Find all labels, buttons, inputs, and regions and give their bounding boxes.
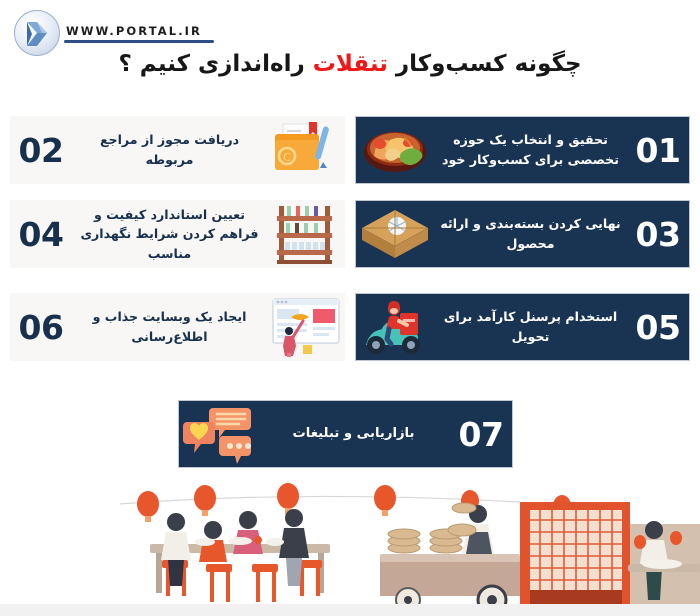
infographic-page: WWW.PORTAL.IR چگونه کسب‌وکار تنقلات راه‌… [0,0,700,616]
certificate-folder-icon: C [267,118,345,182]
step-text: ایجاد یک وبسایت جذاب و اطلاع‌رسانی [72,307,267,346]
footer-band [0,604,700,616]
step-number: 06 [10,308,72,347]
step-card-06[interactable]: 06 ایجاد یک وبسایت جذاب و اطلاع‌رسانی [10,293,345,361]
step-card-03[interactable]: 03 نهایی کردن بسته‌بندی و ارائه محصول [355,200,690,268]
step-card-02[interactable]: 02 دریافت مجوز از مراجع مربوطه C [10,116,345,184]
step-card-01[interactable]: 01 تحقیق و انتخاب یک حوزه تخصصی برای کسب… [355,116,690,184]
speech-bubbles-icon [179,402,257,466]
portal-chevron-logo-icon [25,20,51,48]
step-text: تحقیق و انتخاب یک حوزه تخصصی برای کسب‌وک… [434,130,627,169]
bottle-shelf-icon [267,202,345,266]
page-title: چگونه کسب‌وکار تنقلات راه‌اندازی کنیم ؟ [0,48,700,81]
step-card-05[interactable]: 05 استخدام پرسنل کارآمد برای تحویل [355,293,690,361]
street-food-restaurant-scene [0,468,700,616]
noodle-bowl-icon [356,118,434,182]
title-part-after: راه‌اندازی کنیم ؟ [118,51,312,77]
step-number: 05 [627,308,689,347]
step-text: نهایی کردن بسته‌بندی و ارائه محصول [434,214,627,253]
cardboard-box-icon [356,202,434,266]
title-part-before: چگونه کسب‌وکار [388,51,582,77]
step-text: دریافت مجوز از مراجع مربوطه [72,130,267,169]
delivery-scooter-icon [356,295,434,359]
step-number: 01 [627,131,689,170]
brand-url-text: WWW.PORTAL.IR [66,24,202,38]
step-card-07[interactable]: 07 بازاریابی و تبلیغات [178,400,513,468]
step-card-04[interactable]: 04 تعیین استاندارد کیفیت و فراهم کردن شر… [10,200,345,268]
title-highlight: تنقلات [313,51,388,77]
step-text: تعیین استاندارد کیفیت و فراهم کردن شرایط… [72,205,267,264]
step-text: استخدام پرسنل کارآمد برای تحویل [434,307,627,346]
website-builder-icon [267,295,345,359]
step-number: 02 [10,131,72,170]
step-text: بازاریابی و تبلیغات [257,424,450,444]
step-number: 04 [10,215,72,254]
step-number: 07 [450,415,512,454]
brand-underline [64,40,214,43]
svg-text:C: C [283,151,291,164]
step-number: 03 [627,215,689,254]
